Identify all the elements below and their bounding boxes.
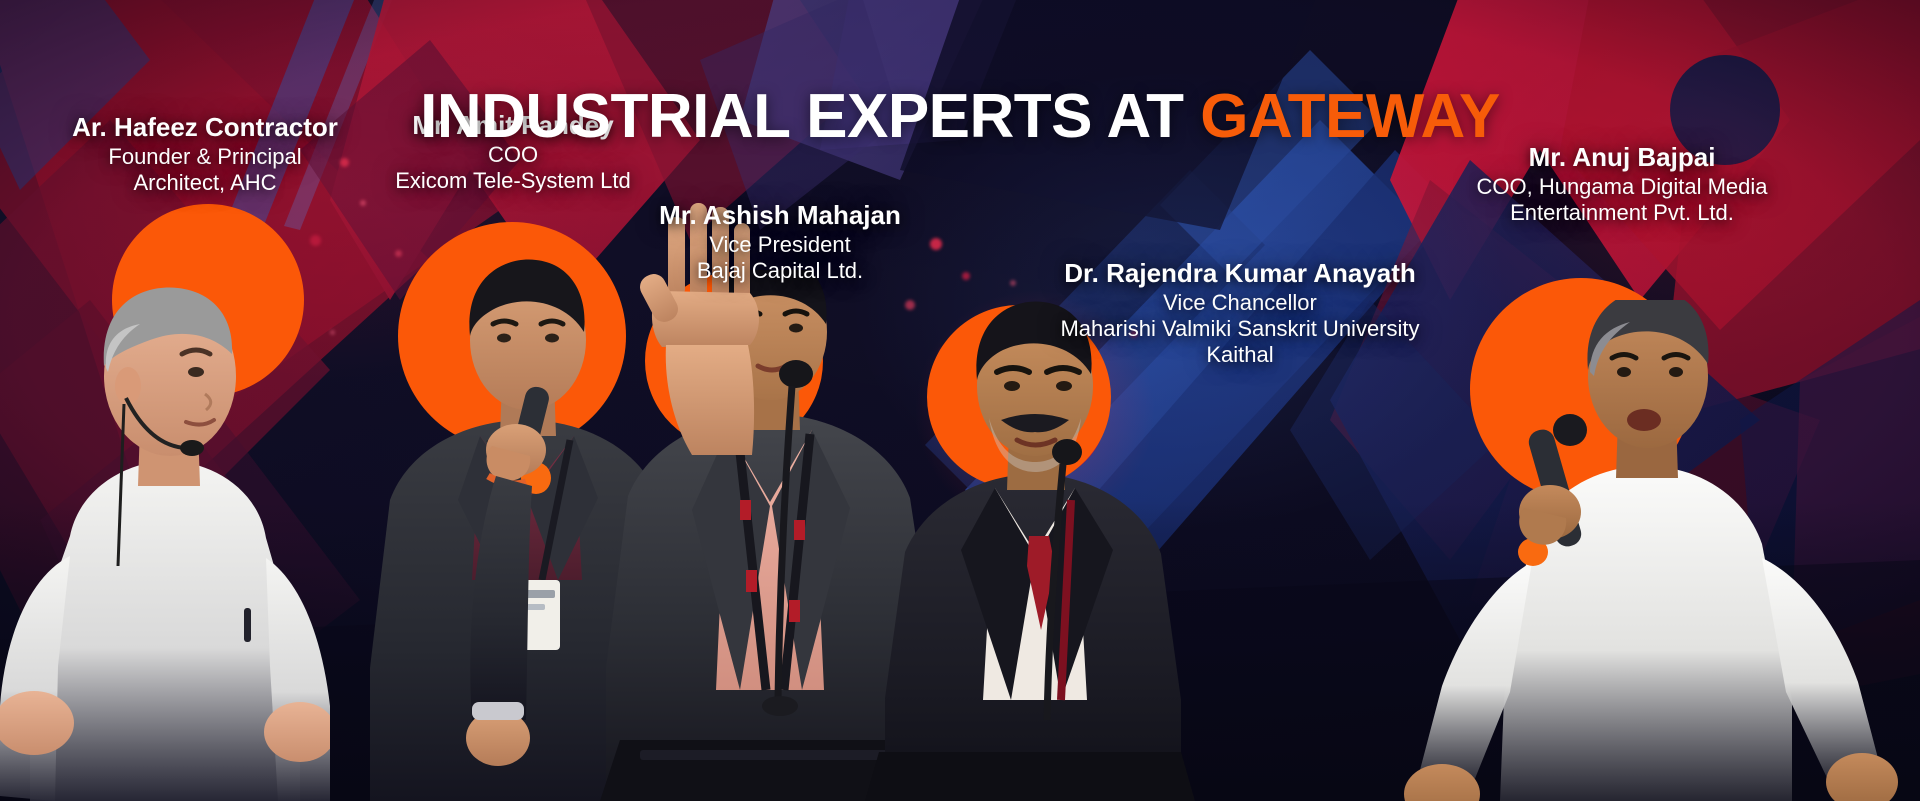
speaker-role: COO, Hungama Digital Media [1420, 174, 1824, 200]
podium [865, 752, 1195, 801]
speaker-photo-anuj-bajpai [1400, 300, 1900, 801]
speaker-org: Maharishi Valmiki Sanskrit University [1010, 316, 1470, 342]
speaker-org: Entertainment Pvt. Ltd. [1420, 200, 1824, 226]
speaker-label-rajendra-kumar-anayath: Dr. Rajendra Kumar Anayath Vice Chancell… [1010, 258, 1470, 368]
speaker-role: Vice President [585, 232, 975, 258]
speaker-org: Bajaj Capital Ltd. [585, 258, 975, 284]
speaker-role: Vice Chancellor [1010, 290, 1470, 316]
title-main: INDUSTRIAL EXPERTS AT [420, 82, 1200, 151]
speaker-photo-rajendra-kumar-anayath [865, 300, 1195, 801]
watch-icon [472, 702, 524, 720]
speaker-label-ashish-mahajan: Mr. Ashish Mahajan Vice President Bajaj … [585, 200, 975, 284]
title-accent: GATEWAY [1200, 82, 1500, 151]
speaker-label-anuj-bajpai: Mr. Anuj Bajpai COO, Hungama Digital Med… [1420, 142, 1824, 226]
speaker-photo-hafeez-contractor [0, 236, 330, 801]
speaker-org: Exicom Tele-System Ltd [335, 168, 691, 194]
industrial-experts-banner: INDUSTRIAL EXPERTS AT GATEWAY [0, 0, 1920, 801]
speaker-org-line2: Kaithal [1010, 342, 1470, 368]
pen-icon [244, 608, 251, 642]
page-title: INDUSTRIAL EXPERTS AT GATEWAY [0, 86, 1920, 148]
speaker-name: Dr. Rajendra Kumar Anayath [1010, 258, 1470, 288]
speaker-name: Mr. Ashish Mahajan [585, 200, 975, 230]
